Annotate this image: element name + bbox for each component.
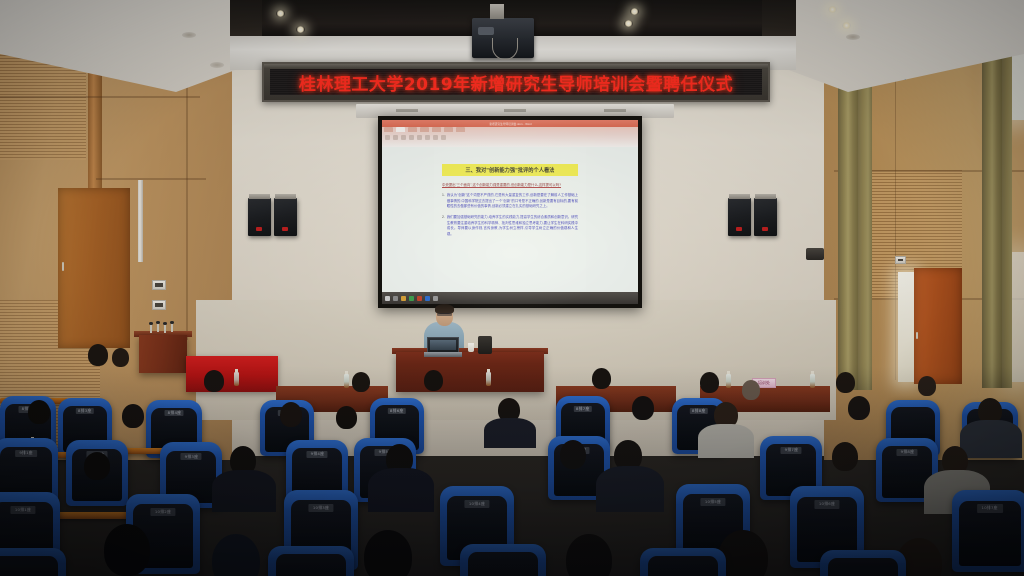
ribbon-tab[interactable]: [444, 127, 453, 132]
doorway-light: [898, 272, 914, 382]
seat[interactable]: [268, 546, 354, 576]
podium-microphone-4: [171, 323, 173, 332]
auditorium-photo: 桂林理工大学2019年新增研究生导师培训会暨聘任仪式 新增研究生导师培训会.do…: [0, 0, 1024, 576]
explorer-icon[interactable]: [401, 296, 406, 301]
projector-cable: [492, 38, 518, 60]
ribbon-icon[interactable]: [433, 135, 438, 140]
document-lead-text: 中央提出"三个面向",这个创新能力强是重要的,但创新能力是什么,这样提可以吗?: [442, 183, 561, 187]
water-bottle-6: [234, 372, 239, 386]
wall-speaker-left-a: [248, 198, 271, 236]
ceiling-spot-5: [828, 6, 837, 13]
red-table-skirt: [186, 356, 278, 392]
word-ribbon: [382, 127, 638, 147]
door-left[interactable]: [58, 188, 130, 348]
head-table: [396, 352, 544, 392]
ribbon-tab[interactable]: [456, 127, 465, 132]
projection-screen: 新增研究生导师培训会.docx - Word: [378, 116, 642, 308]
projected-image: 新增研究生导师培训会.docx - Word: [382, 120, 638, 304]
led-screen: 桂林理工大学2019年新增研究生导师培训会暨聘任仪式: [270, 69, 762, 95]
speaker-logo: [256, 227, 262, 231]
ceiling-downlight-1: [182, 32, 196, 38]
water-bottle-2: [486, 372, 491, 386]
water-bottle-1: [344, 374, 349, 388]
water-bottle-5: [810, 374, 815, 388]
ceiling-spot-1: [276, 10, 285, 17]
ceiling-spot-2: [296, 26, 305, 33]
av-wall-plate-1[interactable]: [152, 280, 166, 290]
word-title-text: 新增研究生导师培训会.docx - Word: [489, 122, 531, 126]
paragraph-text: 我认为"创新"这个词是不严谨的,它是有大量重复的工作,创新是要在了解前人工作基础…: [447, 193, 578, 210]
ppt-icon[interactable]: [417, 296, 422, 301]
ceiling-spot-6: [842, 22, 851, 29]
led-banner: 桂林理工大学2019年新增研究生导师培训会暨聘任仪式: [262, 62, 770, 102]
ribbon-tabs: [384, 127, 465, 133]
window-light-right-lower: [1010, 252, 1024, 382]
ceiling-spot-4: [624, 20, 633, 27]
projector-lens: [478, 27, 494, 35]
seat[interactable]: 10排7座: [952, 490, 1024, 572]
door-left-handle[interactable]: [62, 262, 64, 271]
seat[interactable]: [820, 550, 906, 576]
ribbon-icon[interactable]: [441, 135, 446, 140]
door-handle[interactable]: [916, 332, 918, 339]
document-heading: 三、我对"创新能力强"批评的个人看法: [442, 164, 578, 176]
paragraph-number: 2.: [442, 215, 445, 237]
ceiling-downlight-2: [210, 62, 224, 68]
word-icon[interactable]: [425, 296, 430, 301]
av-wall-plate-2[interactable]: [152, 300, 166, 310]
ribbon-tab[interactable]: [432, 127, 441, 132]
ribbon-tab-active[interactable]: [396, 127, 405, 132]
wall-speaker-left-b: [274, 198, 297, 236]
word-titlebar: 新增研究生导师培训会.docx - Word: [382, 120, 638, 127]
door-right[interactable]: [914, 268, 962, 384]
ribbon-tab[interactable]: [420, 127, 429, 132]
laptop-screen[interactable]: [427, 337, 459, 353]
podium-microphone-3: [164, 324, 166, 333]
document-heading-text: 三、我对"创新能力强"批评的个人看法: [465, 166, 554, 174]
water-bottle-4: [726, 374, 731, 388]
ribbon-icon[interactable]: [425, 135, 430, 140]
seat[interactable]: [0, 548, 66, 576]
start-icon[interactable]: [385, 296, 390, 301]
ribbon-tab[interactable]: [384, 127, 393, 132]
wall-camera: [806, 248, 824, 260]
ribbon-tab[interactable]: [408, 127, 417, 132]
speaker-logo: [762, 227, 768, 231]
windows-taskbar: [382, 292, 638, 304]
seat[interactable]: [640, 548, 726, 576]
seat[interactable]: [460, 544, 546, 576]
document-page: 三、我对"创新能力强"批评的个人看法 中央提出"三个面向",这个创新能力强是重要…: [434, 147, 586, 292]
speaker-logo: [282, 227, 288, 231]
media-icon[interactable]: [409, 296, 414, 301]
ribbon-icon[interactable]: [385, 135, 390, 140]
document-area: 三、我对"创新能力强"批评的个人看法 中央提出"三个面向",这个创新能力强是重要…: [382, 147, 638, 292]
ceiling-spot-3: [630, 8, 639, 15]
document-lead: 中央提出"三个面向",这个创新能力强是重要的,但创新能力是什么,这样提可以吗?: [442, 183, 578, 188]
wall-speaker-right-a: [728, 198, 751, 236]
paragraph-text: 我们要加强基础研究的能力,培养学生的实践能力,提高学生的综合素质和创新意识。研究…: [447, 215, 578, 237]
wall-pipe: [138, 180, 143, 262]
search-icon[interactable]: [393, 296, 398, 301]
wall-speaker-right-b: [754, 198, 777, 236]
name-card-text: 培训处: [758, 380, 770, 386]
curtain-right-outer[interactable]: [982, 8, 1012, 388]
wall-seam: [0, 96, 200, 98]
browser-icon[interactable]: [433, 296, 438, 301]
ribbon-icon[interactable]: [393, 135, 398, 140]
podium-microphone-2: [157, 323, 159, 332]
document-paragraph-2: 2. 我们要加强基础研究的能力,培养学生的实践能力,提高学生的综合素质和创新意识…: [442, 215, 578, 237]
paragraph-number: 1.: [442, 193, 445, 210]
cup-on-table: [468, 343, 474, 352]
speaker-logo: [736, 227, 742, 231]
ribbon-icon[interactable]: [401, 135, 406, 140]
document-paragraph-1: 1. 我认为"创新"这个词是不严谨的,它是有大量重复的工作,创新是要在了解前人工…: [442, 193, 578, 210]
ceiling-projector: [472, 18, 534, 58]
ribbon-icon[interactable]: [417, 135, 422, 140]
led-banner-text: 桂林理工大学2019年新增研究生导师培训会暨聘任仪式: [299, 70, 733, 95]
laptop-keyboard[interactable]: [424, 352, 462, 357]
wall-seam: [96, 178, 206, 180]
presenter-glasses: [437, 313, 452, 316]
document-stack: [478, 336, 492, 354]
wall-seam: [895, 40, 897, 380]
ribbon-icon[interactable]: [409, 135, 414, 140]
podium-microphone-1: [150, 324, 152, 333]
av-wall-plate-3[interactable]: [895, 256, 906, 264]
podium: [139, 335, 187, 373]
ribbon-icons: [385, 135, 446, 140]
ceiling-downlight-3: [846, 34, 860, 40]
